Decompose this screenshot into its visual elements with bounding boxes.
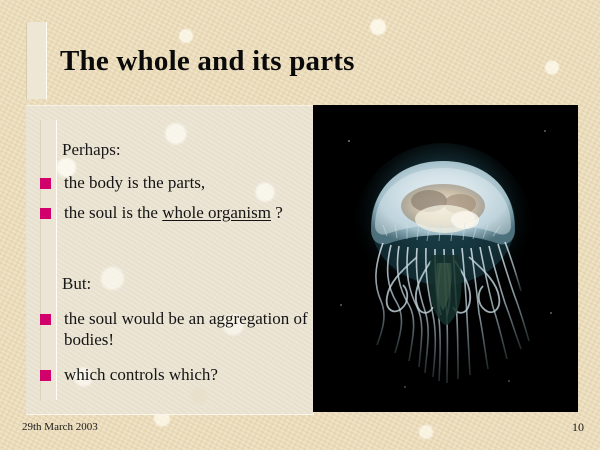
lead-perhaps: Perhaps: xyxy=(62,140,121,160)
list-item-label: the body is the parts, xyxy=(64,172,205,193)
title-accent-bar xyxy=(26,22,47,99)
lead-but: But: xyxy=(62,274,91,294)
list-item: the soul is the whole organism ? xyxy=(40,202,308,223)
bullet-square-icon xyxy=(40,314,51,325)
list-item: the body is the parts, xyxy=(40,172,308,193)
footer-page-number: 10 xyxy=(572,420,584,435)
bullet-square-icon xyxy=(40,208,51,219)
slide: The whole and its parts Perhaps: the bod… xyxy=(0,0,600,450)
content-panel: Perhaps: the body is the parts, the soul… xyxy=(26,105,314,415)
bullet-square-icon xyxy=(40,178,51,189)
list-item-underlined-text: whole organism xyxy=(162,203,271,222)
footer-date: 29th March 2003 xyxy=(22,421,98,433)
panel-accent-strip xyxy=(40,120,57,400)
list-item-label: which controls which? xyxy=(64,364,218,385)
list-item: the soul would be an aggregation of bodi… xyxy=(40,308,308,350)
list-item: which controls which? xyxy=(40,364,308,385)
list-item-label: the soul is the whole organism ? xyxy=(64,202,283,223)
jellyfish-photo xyxy=(313,105,578,412)
page-title: The whole and its parts xyxy=(60,38,560,84)
list-item-text-before: the soul is the xyxy=(64,203,162,222)
list-item-label: the soul would be an aggregation of bodi… xyxy=(64,308,308,350)
bullet-square-icon xyxy=(40,370,51,381)
jellyfish-illustration xyxy=(313,105,578,412)
list-item-text-after: ? xyxy=(271,203,283,222)
